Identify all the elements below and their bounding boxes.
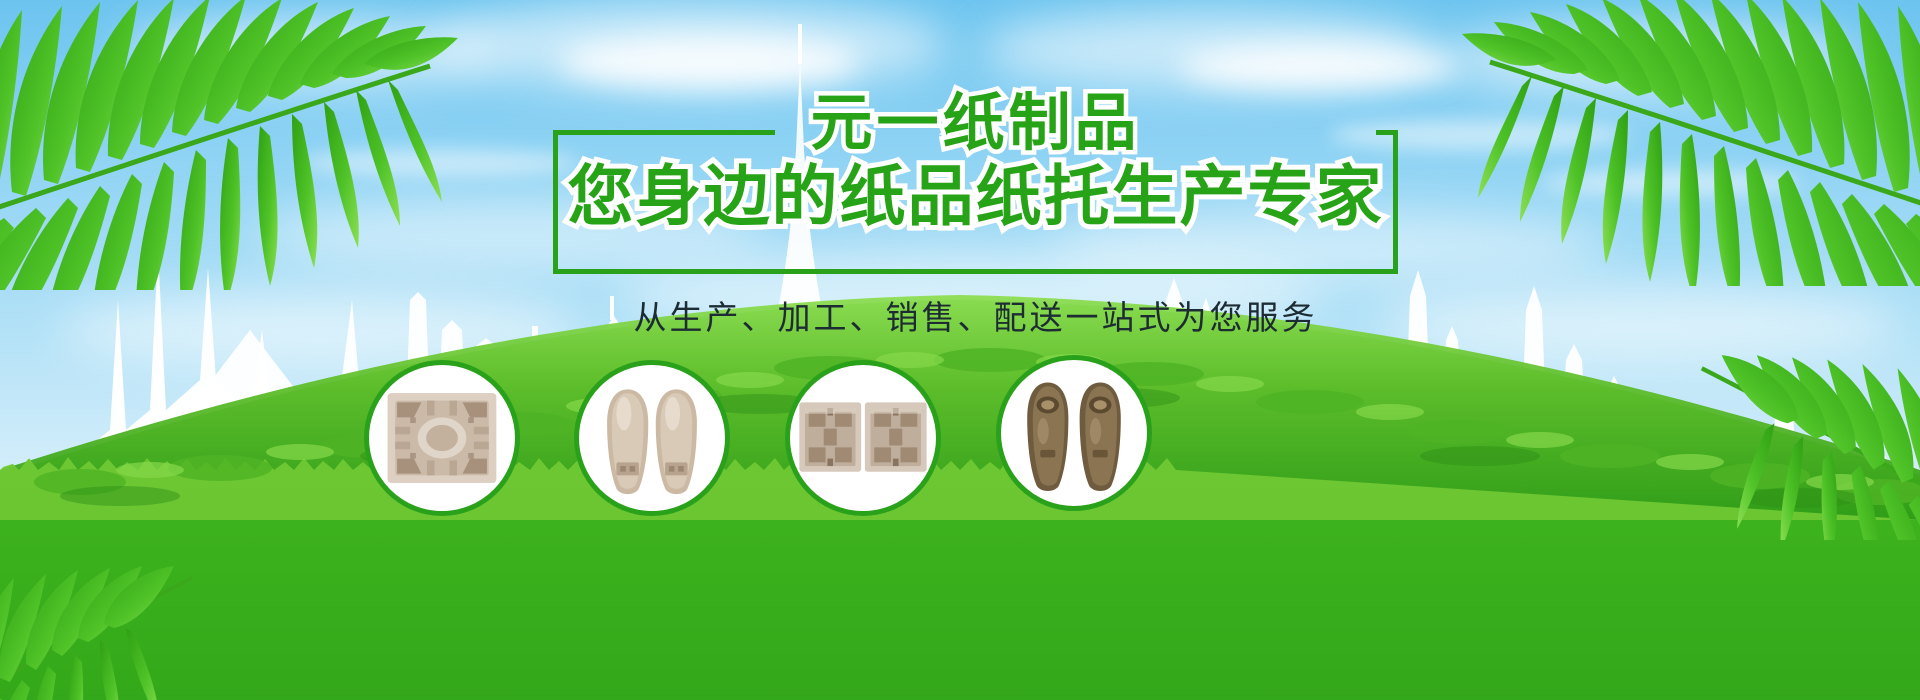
paper-pulp-packaging-pair-icon bbox=[790, 365, 936, 511]
product-circle-paper-pulp-shoe-tree-pair[interactable] bbox=[574, 360, 730, 516]
promo-banner: 元一纸制品 您身边的纸品纸托生产专家 从生产、加工、销售、配送一站式为您服务 bbox=[0, 0, 1920, 700]
product-circle-paper-pulp-packaging-pair[interactable] bbox=[785, 360, 941, 516]
product-circle-paper-pulp-tray-square[interactable] bbox=[364, 360, 520, 516]
product-circle-row bbox=[0, 0, 1920, 700]
product-circle-paper-pulp-shoe-insert-pair[interactable] bbox=[996, 355, 1152, 511]
paper-pulp-shoe-tree-pair-icon bbox=[579, 365, 725, 511]
paper-pulp-shoe-insert-pair-icon bbox=[1001, 360, 1147, 506]
paper-pulp-tray-square-icon bbox=[369, 365, 515, 511]
